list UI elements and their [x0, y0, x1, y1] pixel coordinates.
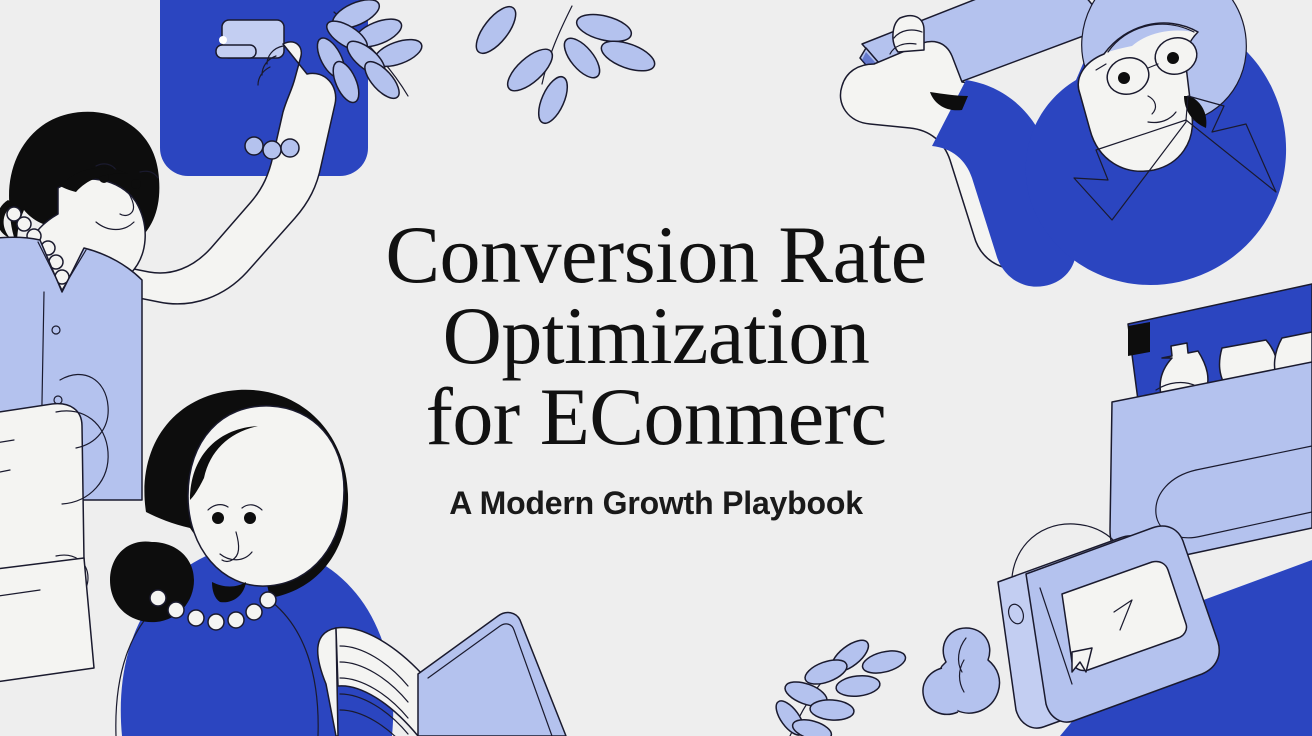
slide-illustration-layer: .bg { fill:#eeeeee; } .blue { fill:#2b45…	[0, 0, 1312, 736]
small-device	[216, 20, 284, 58]
beaded-bracelet	[245, 137, 299, 159]
presentation-slide: .bg { fill:#eeeeee; } .blue { fill:#2b45…	[0, 0, 1312, 736]
illustration-shopping-bag	[1110, 284, 1312, 566]
